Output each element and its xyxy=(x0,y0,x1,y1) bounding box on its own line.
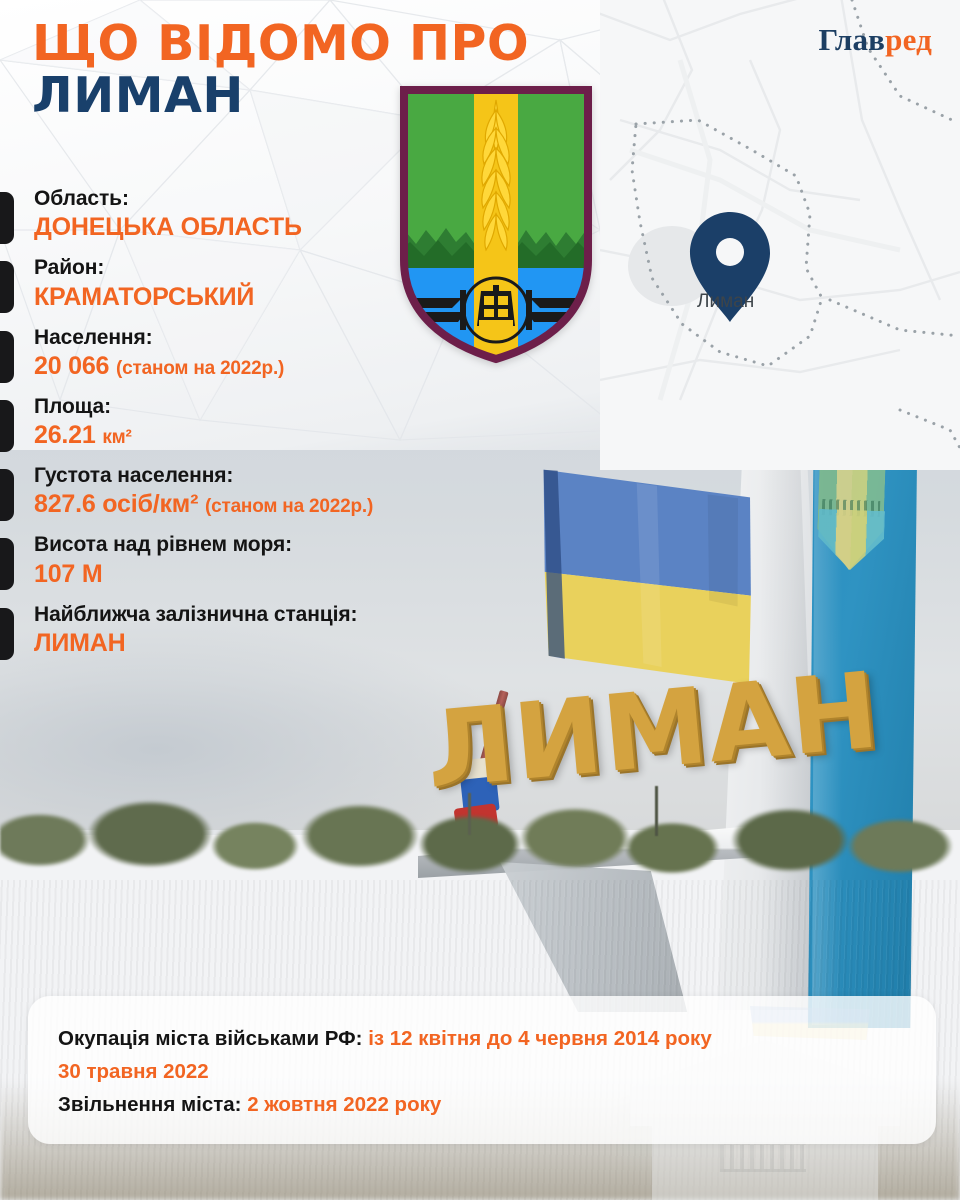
bullet-marker xyxy=(0,608,14,660)
stat-value-note: (станом на 2022р.) xyxy=(116,358,284,379)
stat-value: ЛИМАН xyxy=(34,628,520,658)
stat-value-main: 26.21 xyxy=(34,421,96,449)
map-city-label: Лиман xyxy=(697,291,754,313)
occupation-label: Окупація міста військами РФ: xyxy=(58,1027,363,1050)
liberation-value: 2 жовтня 2022 року xyxy=(247,1093,441,1116)
bullet-marker xyxy=(0,469,14,521)
bullet-marker xyxy=(0,331,14,383)
logo-part-2: ред xyxy=(885,22,932,57)
timeline-card: Окупація міста військами РФ: із 12 квітн… xyxy=(28,996,936,1144)
stat-value: ДОНЕЦЬКА ОБЛАСТЬ xyxy=(34,212,520,242)
stat-label: Область: xyxy=(34,186,520,212)
occupation-value: із 12 квітня до 4 червня 2014 року xyxy=(368,1027,712,1050)
stat-label: Площа: xyxy=(34,394,520,420)
bullet-marker xyxy=(0,400,14,452)
occupation-second-date: 30 травня 2022 xyxy=(58,1055,906,1088)
stat-value-main: 20 066 xyxy=(34,352,109,380)
stat-item-population: Населення: 20 066 (станом на 2022р.) xyxy=(0,325,520,381)
stat-label: Район: xyxy=(34,255,520,281)
stat-item-area: Площа: 26.21 км² xyxy=(0,394,520,450)
stat-value-main: ДОНЕЦЬКА ОБЛАСТЬ xyxy=(34,213,302,241)
stat-value: 827.6 осіб/км² (станом на 2022р.) xyxy=(34,489,520,519)
infographic-canvas: ЛИМАН xyxy=(0,0,960,1200)
bullet-marker xyxy=(0,192,14,244)
stat-label: Густота населення: xyxy=(34,463,520,489)
utility-pole xyxy=(468,793,471,835)
building-balcony xyxy=(720,1142,806,1172)
stat-item-density: Густота населення: 827.6 осіб/км² (стано… xyxy=(0,463,520,519)
stat-value-main: ЛИМАН xyxy=(34,629,125,657)
stat-value: 20 066 (станом на 2022р.) xyxy=(34,351,520,381)
stat-value: КРАМАТОРСЬКИЙ xyxy=(34,282,520,312)
location-map[interactable] xyxy=(600,0,960,470)
occupation-line: Окупація міста військами РФ: із 12 квітн… xyxy=(58,1022,906,1055)
stat-value-note: (станом на 2022р.) xyxy=(205,496,373,517)
stat-value-unit: км² xyxy=(102,427,131,448)
stat-item-raion: Район: КРАМАТОРСЬКИЙ xyxy=(0,255,520,311)
stat-value-main: 107 М xyxy=(34,560,102,588)
liberation-line: Звільнення міста: 2 жовтня 2022 року xyxy=(58,1088,906,1121)
bullet-marker xyxy=(0,261,14,313)
stat-label: Населення: xyxy=(34,325,520,351)
liberation-label: Звільнення міста: xyxy=(58,1093,242,1116)
stat-item-oblast: Область: ДОНЕЦЬКА ОБЛАСТЬ xyxy=(0,186,520,242)
stat-value: 107 М xyxy=(34,559,520,589)
stat-value: 26.21 км² xyxy=(34,420,520,450)
stat-item-railway-station: Найближча залізнична станція: ЛИМАН xyxy=(0,602,520,658)
logo-part-1: Глав xyxy=(818,22,885,57)
stat-label: Висота над рівнем моря: xyxy=(34,532,520,558)
stats-list: Область: ДОНЕЦЬКА ОБЛАСТЬ Район: КРАМАТО… xyxy=(0,186,520,671)
utility-pole-2 xyxy=(655,786,658,836)
stat-value-main: 827.6 осіб/км² xyxy=(34,490,198,518)
stat-label: Найближча залізнична станція: xyxy=(34,602,520,628)
bullet-marker xyxy=(0,538,14,590)
glavred-logo[interactable]: Главред xyxy=(818,22,932,58)
stat-value-main: КРАМАТОРСЬКИЙ xyxy=(34,283,254,311)
stat-item-elevation: Висота над рівнем моря: 107 М xyxy=(0,532,520,588)
title-line-1: ЩО ВІДОМО ПРО xyxy=(32,18,592,70)
